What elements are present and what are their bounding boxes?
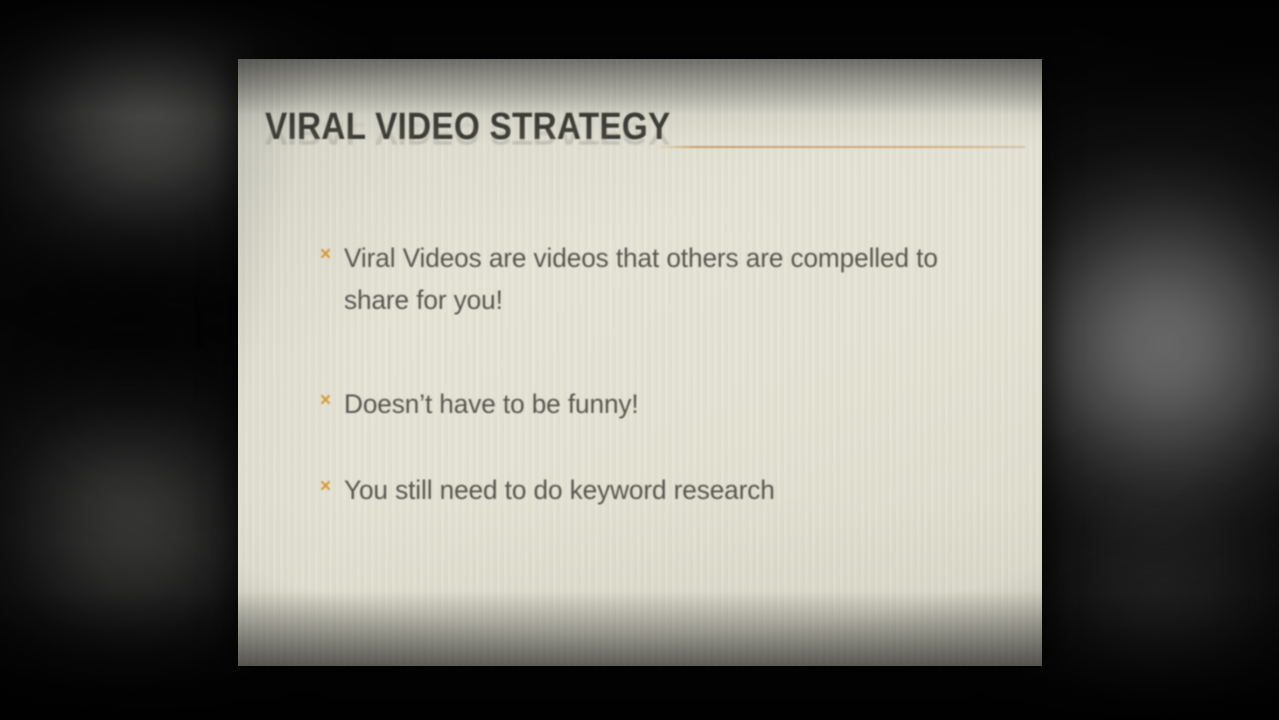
slide-title-block: VIRAL VIDEO STRATEGY VIRAL VIDEO STRATEG… bbox=[265, 107, 1025, 207]
bullet-text-1: Viral Videos are videos that others are … bbox=[344, 237, 990, 321]
bullet-cross-icon: × bbox=[320, 470, 344, 504]
bullet-text-2: Doesn’t have to be funny! bbox=[344, 383, 990, 425]
bullet-item-1: × Viral Videos are videos that others ar… bbox=[320, 237, 1010, 321]
bullet-cross-icon: × bbox=[320, 384, 344, 418]
bullet-item-2: × Doesn’t have to be funny! bbox=[320, 383, 1010, 425]
bullet-cross-icon: × bbox=[320, 238, 344, 272]
slide-title-reflection: VIRAL VIDEO STRATEGY bbox=[265, 116, 934, 149]
presentation-slide: VIRAL VIDEO STRATEGY VIRAL VIDEO STRATEG… bbox=[238, 59, 1042, 666]
bullet-text-3: You still need to do keyword research bbox=[344, 469, 990, 511]
slide-bullet-list: × Viral Videos are videos that others ar… bbox=[320, 237, 1010, 551]
title-underline-rule bbox=[658, 146, 1025, 148]
video-frame: VIRAL VIDEO STRATEGY VIRAL VIDEO STRATEG… bbox=[0, 0, 1279, 720]
slide-content: VIRAL VIDEO STRATEGY VIRAL VIDEO STRATEG… bbox=[238, 59, 1042, 666]
bullet-item-3: × You still need to do keyword research bbox=[320, 469, 1010, 511]
